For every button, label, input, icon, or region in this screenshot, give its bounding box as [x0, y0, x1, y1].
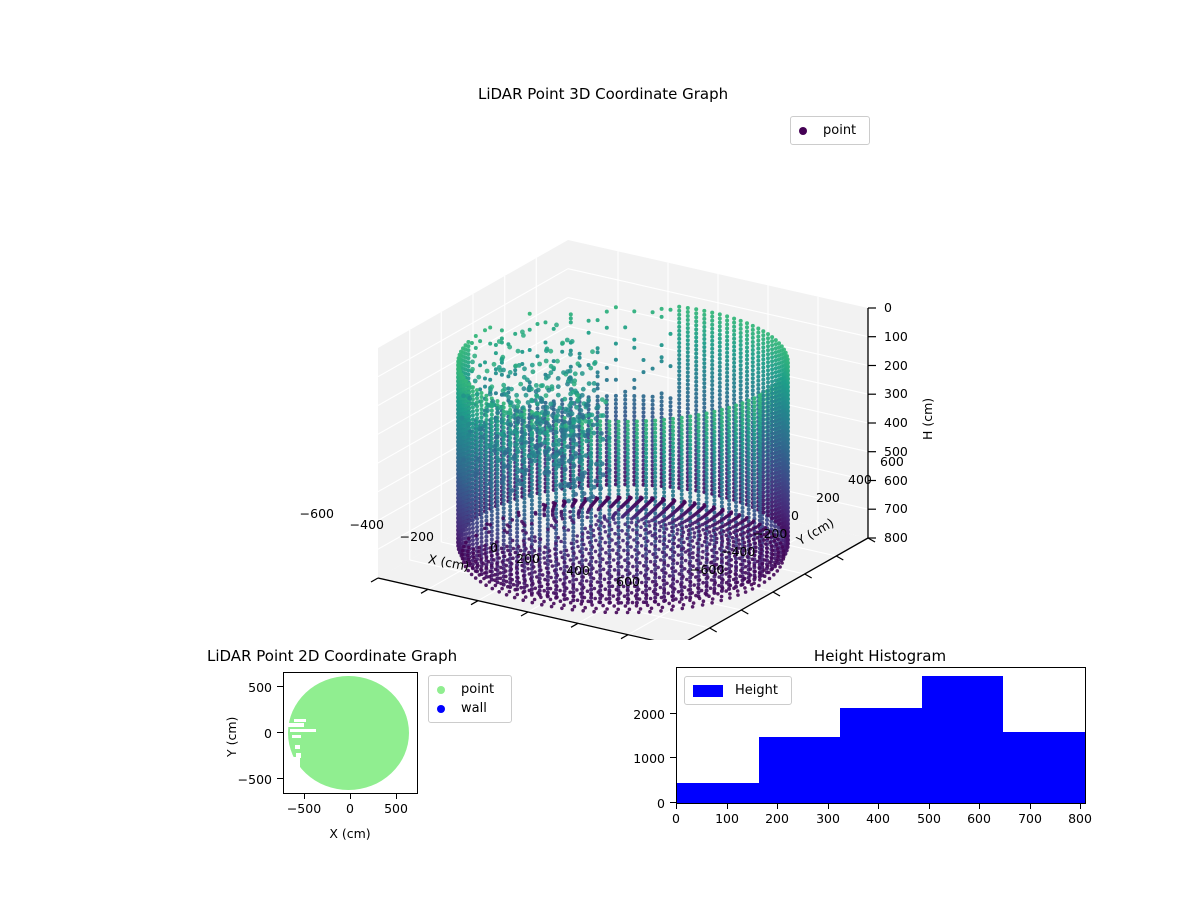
legend-label: Height	[735, 683, 778, 698]
legend-item-point[interactable]: point	[799, 121, 861, 140]
histogram-bar[interactable]	[840, 708, 922, 803]
point-marker-icon	[799, 127, 807, 135]
plot2d-axes[interactable]	[283, 672, 418, 794]
histogram-legend[interactable]: Height	[684, 676, 792, 705]
plot2d-yaxis-label: Y (cm)	[224, 717, 239, 757]
scan-void	[295, 745, 300, 749]
height-bar-icon	[693, 685, 723, 697]
plot2d-xaxis-label: X (cm)	[329, 826, 370, 841]
legend-item-wall[interactable]: wall	[437, 699, 503, 718]
legend-label: point	[823, 123, 856, 138]
plot2d-title: LiDAR Point 2D Coordinate Graph	[207, 647, 457, 665]
point-cloud-disc	[288, 676, 409, 790]
histogram-bar[interactable]	[922, 676, 1004, 803]
histogram-bar[interactable]	[1003, 732, 1085, 803]
plot3d-zaxis-label: H (cm)	[920, 398, 935, 440]
legend-label: point	[461, 682, 494, 697]
plot3d-title: LiDAR Point 3D Coordinate Graph	[478, 85, 728, 103]
histogram-bar[interactable]	[677, 783, 759, 803]
legend-item-point[interactable]: point	[437, 680, 503, 699]
scan-void	[286, 723, 304, 727]
legend-label: wall	[461, 701, 487, 716]
wall-marker-icon	[437, 705, 445, 713]
histogram-bar[interactable]	[759, 737, 841, 803]
plot3d-legend[interactable]: point	[790, 116, 870, 145]
point-marker-icon	[437, 686, 445, 694]
scan-void	[292, 735, 301, 738]
matplotlib-figure: LiDAR Point 3D Coordinate Graph	[0, 0, 1200, 900]
plot2d-legend[interactable]: point wall	[428, 675, 512, 723]
plot3d-axes[interactable]: −600 −400 −200 0 200 400 600 X (cm) −600…	[300, 140, 940, 640]
plot3d-canvas	[300, 140, 940, 640]
scan-void	[286, 757, 300, 779]
histogram-title: Height Histogram	[814, 647, 946, 665]
legend-item-height[interactable]: Height	[693, 681, 783, 700]
scan-void	[290, 729, 316, 732]
scan-void	[294, 719, 306, 722]
